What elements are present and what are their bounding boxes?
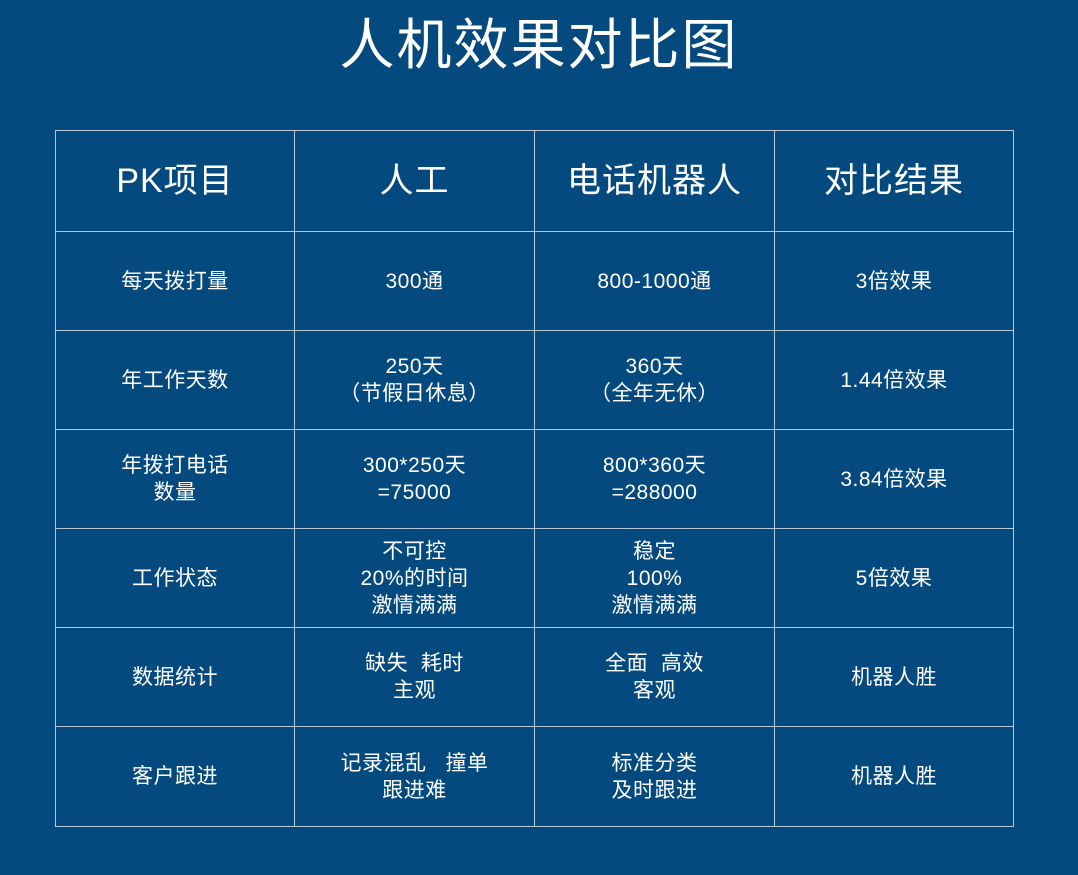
cell-text: 工作状态: [62, 565, 288, 592]
table-body: 每天拨打量 300通 800-1000通 3倍效果 年工作天数 250天（节假日…: [56, 232, 1014, 827]
table-row: 年工作天数 250天（节假日休息） 360天（全年无休） 1.44倍效果: [56, 331, 1014, 430]
cell-text-line: 稳定: [541, 538, 768, 565]
cell-item: 年工作天数: [56, 331, 295, 430]
cell-text-line: 机器人胜: [781, 664, 1007, 691]
cell-text-line: 3.84倍效果: [781, 466, 1007, 493]
cell-text-line: 工作状态: [62, 565, 288, 592]
cell-text: 3倍效果: [781, 268, 1007, 295]
cell-text: 300*250天=75000: [301, 452, 528, 506]
cell-robot: 360天（全年无休）: [535, 331, 775, 430]
cell-human: 250天（节假日休息）: [295, 331, 535, 430]
cell-text-line: 客观: [541, 677, 768, 704]
cell-text-line: 800*360天: [541, 452, 768, 479]
cell-item: 数据统计: [56, 628, 295, 727]
cell-robot: 标准分类及时跟进: [535, 727, 775, 827]
cell-text: 全面 高效客观: [541, 650, 768, 704]
table-row: 每天拨打量 300通 800-1000通 3倍效果: [56, 232, 1014, 331]
cell-text-line: 300*250天: [301, 452, 528, 479]
cell-human: 记录混乱 撞单跟进难: [295, 727, 535, 827]
cell-text: 1.44倍效果: [781, 367, 1007, 394]
table-header-row: PK项目 人工 电话机器人 对比结果: [56, 131, 1014, 232]
cell-result: 机器人胜: [775, 628, 1014, 727]
cell-text-line: =288000: [541, 479, 768, 506]
cell-text-line: 360天: [541, 353, 768, 380]
cell-human: 不可控20%的时间激情满满: [295, 529, 535, 628]
cell-human: 缺失 耗时主观: [295, 628, 535, 727]
cell-text-line: =75000: [301, 479, 528, 506]
cell-text-line: 全面 高效: [541, 650, 768, 677]
cell-text: 数据统计: [62, 664, 288, 691]
cell-text-line: 不可控: [301, 538, 528, 565]
cell-text-line: 每天拨打量: [62, 268, 288, 295]
table-row: 工作状态 不可控20%的时间激情满满 稳定100%激情满满 5倍效果: [56, 529, 1014, 628]
cell-text: 3.84倍效果: [781, 466, 1007, 493]
cell-text-line: 年工作天数: [62, 367, 288, 394]
cell-text: 不可控20%的时间激情满满: [301, 538, 528, 619]
cell-human: 300通: [295, 232, 535, 331]
cell-text: 每天拨打量: [62, 268, 288, 295]
cell-text: 300通: [301, 268, 528, 295]
cell-robot: 800-1000通: [535, 232, 775, 331]
cell-text: 记录混乱 撞单跟进难: [301, 750, 528, 804]
column-header-human: 人工: [295, 131, 535, 232]
cell-text-line: 数据统计: [62, 664, 288, 691]
cell-text-line: 5倍效果: [781, 565, 1007, 592]
cell-text-line: 激情满满: [541, 592, 768, 619]
cell-text-line: 数量: [62, 479, 288, 506]
cell-text: 缺失 耗时主观: [301, 650, 528, 704]
cell-text-line: 缺失 耗时: [301, 650, 528, 677]
cell-robot: 稳定100%激情满满: [535, 529, 775, 628]
cell-result: 1.44倍效果: [775, 331, 1014, 430]
cell-text-line: （节假日休息）: [301, 380, 528, 407]
cell-text-line: 300通: [301, 268, 528, 295]
cell-text-line: 年拨打电话: [62, 452, 288, 479]
page-title: 人机效果对比图: [0, 14, 1078, 76]
cell-text-line: 标准分类: [541, 750, 768, 777]
cell-text-line: 记录混乱 撞单: [301, 750, 528, 777]
cell-text: 800*360天=288000: [541, 452, 768, 506]
cell-item: 每天拨打量: [56, 232, 295, 331]
cell-text-line: 3倍效果: [781, 268, 1007, 295]
cell-text-line: 客户跟进: [62, 763, 288, 790]
column-header-item: PK项目: [56, 131, 295, 232]
cell-robot: 800*360天=288000: [535, 430, 775, 529]
cell-text-line: 20%的时间: [301, 565, 528, 592]
table-header: PK项目 人工 电话机器人 对比结果: [56, 131, 1014, 232]
cell-text-line: 100%: [541, 565, 768, 592]
cell-text: 800-1000通: [541, 268, 768, 295]
cell-item: 客户跟进: [56, 727, 295, 827]
slide-root: 人机效果对比图 PK项目 人工 电话机器人 对比结果 每天拨打量 300通 80…: [0, 0, 1078, 875]
column-header-result: 对比结果: [775, 131, 1014, 232]
cell-human: 300*250天=75000: [295, 430, 535, 529]
cell-text: 250天（节假日休息）: [301, 353, 528, 407]
cell-text: 360天（全年无休）: [541, 353, 768, 407]
cell-text: 标准分类及时跟进: [541, 750, 768, 804]
table-row: 年拨打电话数量 300*250天=75000 800*360天=288000 3…: [56, 430, 1014, 529]
cell-text: 客户跟进: [62, 763, 288, 790]
cell-item: 年拨打电话数量: [56, 430, 295, 529]
cell-text: 机器人胜: [781, 763, 1007, 790]
column-header-robot: 电话机器人: [535, 131, 775, 232]
cell-result: 5倍效果: [775, 529, 1014, 628]
cell-result: 3倍效果: [775, 232, 1014, 331]
cell-text-line: 主观: [301, 677, 528, 704]
cell-text: 机器人胜: [781, 664, 1007, 691]
cell-text: 年拨打电话数量: [62, 452, 288, 506]
cell-text-line: 跟进难: [301, 777, 528, 804]
table-row: 客户跟进 记录混乱 撞单跟进难 标准分类及时跟进 机器人胜: [56, 727, 1014, 827]
cell-result: 3.84倍效果: [775, 430, 1014, 529]
cell-text: 5倍效果: [781, 565, 1007, 592]
cell-text-line: 800-1000通: [541, 268, 768, 295]
cell-text-line: 及时跟进: [541, 777, 768, 804]
cell-text-line: 机器人胜: [781, 763, 1007, 790]
cell-text-line: 激情满满: [301, 592, 528, 619]
cell-result: 机器人胜: [775, 727, 1014, 827]
comparison-table: PK项目 人工 电话机器人 对比结果 每天拨打量 300通 800-1000通 …: [55, 130, 1014, 827]
cell-text: 年工作天数: [62, 367, 288, 394]
cell-robot: 全面 高效客观: [535, 628, 775, 727]
cell-text-line: （全年无休）: [541, 380, 768, 407]
cell-text: 稳定100%激情满满: [541, 538, 768, 619]
table-row: 数据统计 缺失 耗时主观 全面 高效客观 机器人胜: [56, 628, 1014, 727]
cell-item: 工作状态: [56, 529, 295, 628]
cell-text-line: 250天: [301, 353, 528, 380]
cell-text-line: 1.44倍效果: [781, 367, 1007, 394]
